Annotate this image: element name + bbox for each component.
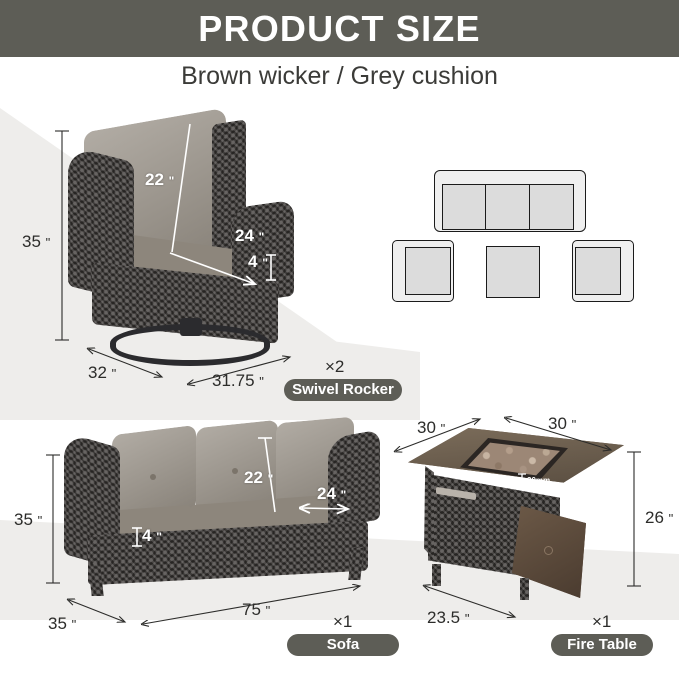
fire-table-leg: [520, 578, 529, 600]
page-title: PRODUCT SIZE: [198, 11, 480, 47]
swivel-rocker-count: ×2: [325, 357, 344, 377]
sofa-height-label: 35 ": [14, 510, 42, 530]
header-band: PRODUCT SIZE: [0, 0, 679, 57]
sofa-right-arm: [328, 429, 380, 528]
swivel-rocker-illustration: [60, 112, 320, 362]
product-size-infographic: PRODUCT SIZE Brown wicker / Grey cushion: [0, 0, 679, 679]
fire-table-badge: Fire Table: [551, 634, 653, 656]
fire-table-top-left-label: 30 ": [417, 418, 445, 438]
layout-table: [486, 246, 540, 298]
sofa-tuft-button: [150, 474, 156, 480]
fire-table-top-right-label: 30 ": [548, 414, 576, 434]
sofa-width-label: 75 ": [242, 600, 270, 620]
fire-table-top-thickness-label: 30mm: [527, 476, 550, 485]
chair-seat-thickness-label: 4 ": [248, 252, 268, 272]
sofa-illustration: [66, 424, 386, 584]
layout-chair-left: [392, 240, 454, 302]
subtitle: Brown wicker / Grey cushion: [0, 62, 679, 91]
fire-table-illustration: [408, 428, 628, 608]
fire-table-height-label: 26 ": [645, 508, 673, 528]
sofa-depth-label: 35 ": [48, 614, 76, 634]
chair-depth-label: 31.75 ": [212, 371, 264, 391]
fire-table-base-width-label: 23.5 ": [427, 608, 469, 628]
chair-width-label: 32 ": [88, 363, 116, 383]
set-layout-diagram: [392, 170, 660, 320]
fire-table-door-knob: [544, 546, 553, 555]
layout-chair-right: [572, 240, 634, 302]
chair-height-label: 35 ": [22, 232, 50, 252]
sofa-back-cushion-label: 22 ": [244, 468, 273, 488]
sofa-tuft-button: [232, 468, 238, 474]
chair-seat-width-label: 24 ": [235, 226, 264, 246]
fire-table-leg: [432, 564, 441, 586]
sofa-leg: [348, 548, 363, 580]
layout-sofa: [434, 170, 586, 232]
sofa-count: ×1: [333, 612, 352, 632]
fire-table-count: ×1: [592, 612, 611, 632]
sofa-seat-width-label: 24 ": [317, 484, 346, 504]
swivel-rocker-badge: Swivel Rocker: [284, 379, 402, 401]
sofa-seat-thickness-label: 4 ": [142, 526, 162, 546]
chair-swivel-post: [180, 318, 202, 336]
chair-back-cushion-label: 22 ": [145, 170, 174, 190]
sofa-badge: Sofa: [287, 634, 399, 656]
